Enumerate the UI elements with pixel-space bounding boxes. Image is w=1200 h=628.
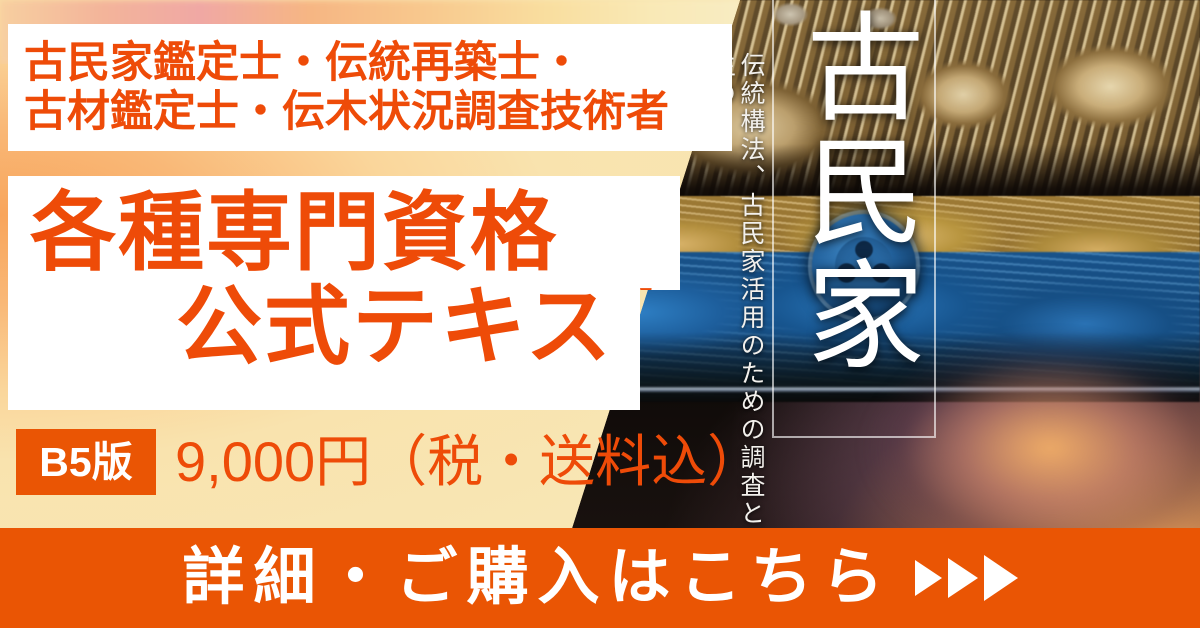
format-badge: B5版 xyxy=(16,429,156,495)
promo-banner: 古民家 伝統構法、古民家活用のための調査と再生の 古民家鑑定士・伝統再築士・ 古… xyxy=(0,0,1200,628)
cta-arrows xyxy=(915,555,1018,601)
headline-line-2: 公式テキスト xyxy=(176,276,701,379)
price-text: 9,000円（税・送料込） xyxy=(175,431,763,493)
triangle-right-icon xyxy=(915,560,942,596)
qualifications-line-2: 古材鑑定士・伝木状況調査技術者 xyxy=(8,88,732,136)
cta-inner: 詳細・ご購入はこちら xyxy=(182,547,1017,609)
headline-box: 各種専門資格 公式テキスト xyxy=(8,176,680,410)
book-cover-title: 古民家 xyxy=(790,6,916,378)
qualifications-line-1: 古民家鑑定士・伝統再築士・ xyxy=(8,39,732,87)
qualifications-box: 古民家鑑定士・伝統再築士・ 古材鑑定士・伝木状況調査技術者 xyxy=(8,24,732,151)
triangle-right-icon xyxy=(948,558,978,598)
format-badge-label: B5版 xyxy=(39,442,132,483)
cta-label: 詳細・ご購入はこちら xyxy=(182,547,892,609)
headline-line-1: 各種専門資格 xyxy=(30,182,558,285)
cta-bar[interactable]: 詳細・ご購入はこちら xyxy=(0,528,1200,628)
triangle-right-icon xyxy=(984,555,1018,601)
